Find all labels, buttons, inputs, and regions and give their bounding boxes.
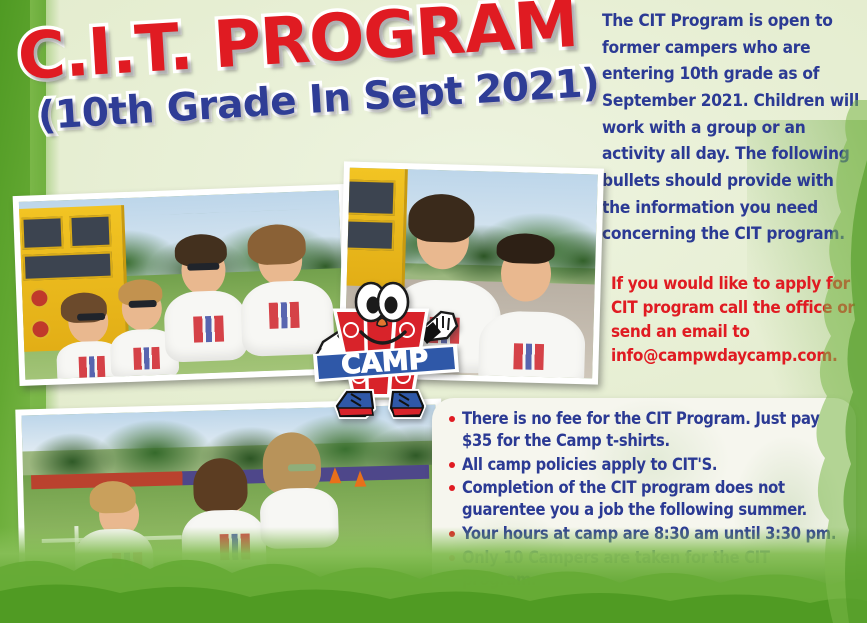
photo-bus-group	[13, 184, 352, 386]
list-item: All camp policies apply to CIT'S.	[448, 454, 842, 476]
list-item: There is no fee for the CIT Program. Jus…	[448, 408, 842, 452]
bottom-foliage-band	[0, 527, 867, 623]
cit-program-flyer: C.I.T. PROGRAM (10th Grade In Sept 2021)…	[0, 0, 867, 623]
title-block: C.I.T. PROGRAM (10th Grade In Sept 2021)	[8, 6, 598, 156]
intro-paragraph: The CIT Program is open to former camper…	[602, 8, 860, 248]
apply-paragraph: If you would like to apply for CIT progr…	[611, 272, 863, 369]
camp-banner-text: CAMP	[340, 344, 429, 380]
camp-mascot-logo: CAMP	[307, 268, 462, 420]
list-item: Completion of the CIT program does not g…	[448, 477, 842, 521]
